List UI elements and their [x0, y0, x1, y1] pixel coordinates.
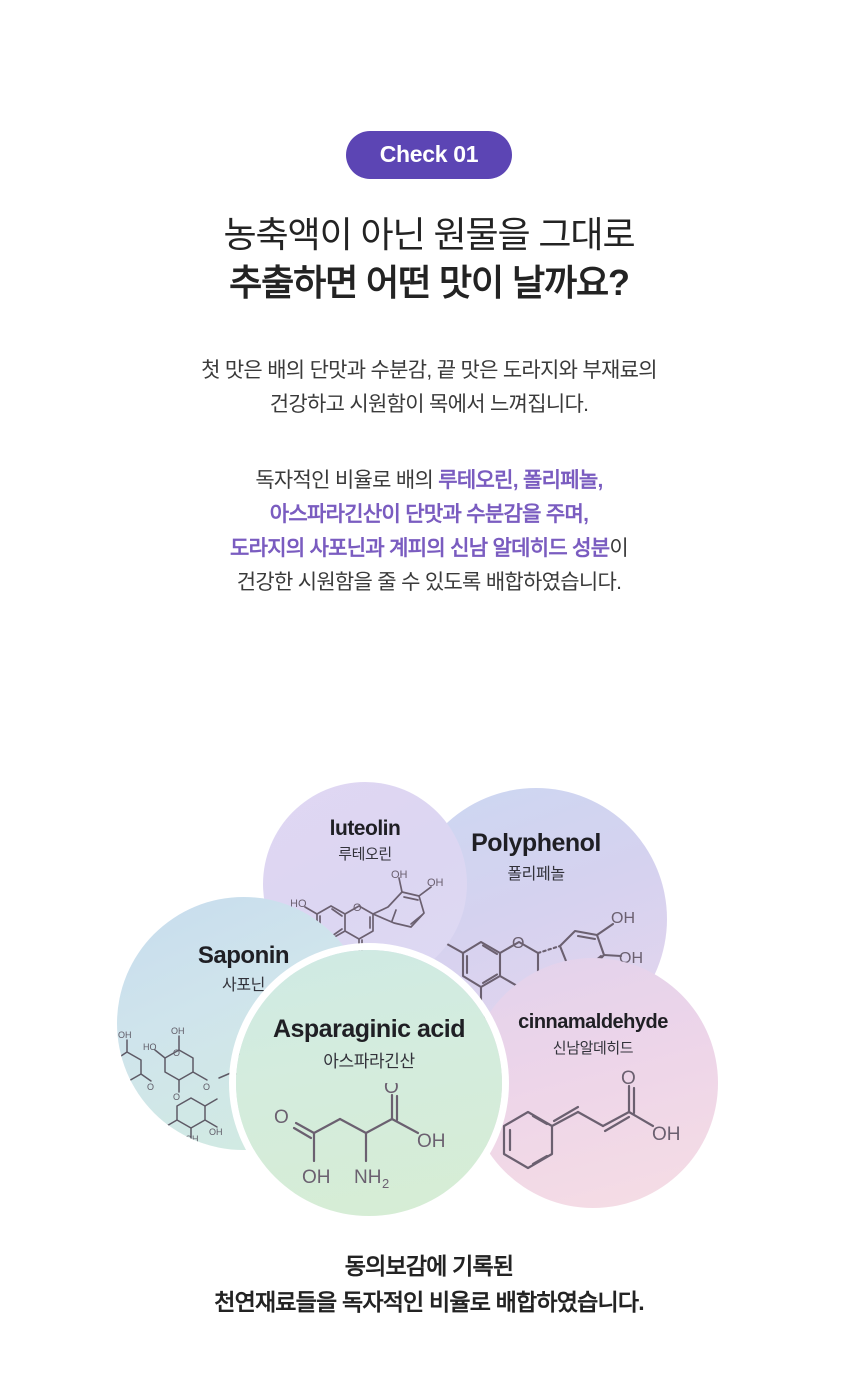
ingredient-bubble-cluster: Polyphenol 폴리페놀 HO OH O OH — [0, 0, 858, 1380]
svg-text:OH: OH — [611, 910, 635, 927]
cinnamic-acid-structure-icon: O OH — [490, 1068, 698, 1180]
svg-text:O: O — [274, 1107, 289, 1128]
svg-text:OH: OH — [171, 1026, 185, 1036]
svg-text:OH: OH — [391, 870, 408, 881]
ingredient-name-ko-asparaginic: 아스파라긴산 — [323, 1052, 414, 1072]
svg-text:O: O — [621, 1068, 636, 1089]
ingredient-bubble-asparaginic-acid: Asparaginic acid 아스파라긴산 O OH NH 2 — [236, 950, 502, 1216]
ingredient-name-en-asparaginic: Asparaginic acid — [273, 1016, 465, 1044]
svg-text:OH: OH — [427, 877, 443, 889]
aspartic-acid-structure-icon: O OH NH 2 O OH — [274, 1083, 470, 1199]
ingredient-name-en-cinnamaldehyde: cinnamaldehyde — [518, 1011, 668, 1033]
svg-text:O: O — [512, 935, 524, 952]
svg-text:OH: OH — [118, 1030, 132, 1040]
ingredient-name-ko-polyphenol: 폴리페놀 — [507, 865, 564, 884]
svg-text:OH: OH — [185, 1134, 199, 1142]
svg-text:O: O — [173, 1092, 180, 1102]
ingredient-name-ko-cinnamaldehyde: 신남알데히드 — [553, 1040, 633, 1058]
ingredient-name-en-saponin: Saponin — [198, 943, 289, 969]
footer-caption: 동의보감에 기록된 천연재료들을 독자적인 비율로 배합하였습니다. — [0, 1248, 858, 1321]
footer-caption-line-2: 천연재료들을 독자적인 비율로 배합하였습니다. — [0, 1284, 858, 1320]
ingredient-name-ko-luteolin: 루테오린 — [338, 846, 392, 864]
svg-text:OH: OH — [652, 1124, 681, 1145]
ingredient-name-en-polyphenol: Polyphenol — [471, 830, 601, 858]
svg-text:O: O — [173, 1048, 180, 1058]
ingredient-name-ko-saponin: 사포닌 — [222, 976, 265, 995]
svg-text:O: O — [147, 1082, 154, 1092]
svg-text:2: 2 — [382, 1176, 389, 1191]
svg-text:NH: NH — [354, 1167, 381, 1188]
svg-text:O: O — [384, 1083, 399, 1098]
ingredient-name-en-luteolin: luteolin — [330, 817, 401, 840]
svg-text:OH: OH — [209, 1127, 223, 1137]
footer-caption-container: 동의보감에 기록된 천연재료들을 독자적인 비율로 배합하였습니다. — [0, 1248, 858, 1321]
svg-text:OH: OH — [302, 1167, 331, 1188]
svg-text:O: O — [203, 1082, 210, 1092]
footer-caption-line-1: 동의보감에 기록된 — [0, 1248, 858, 1284]
svg-text:HO: HO — [157, 1127, 171, 1137]
ingredient-bubble-cinnamaldehyde: cinnamaldehyde 신남알데히드 O — [468, 958, 718, 1208]
svg-text:O: O — [353, 902, 362, 914]
svg-text:HO: HO — [143, 1042, 157, 1052]
svg-text:OH: OH — [417, 1131, 446, 1152]
